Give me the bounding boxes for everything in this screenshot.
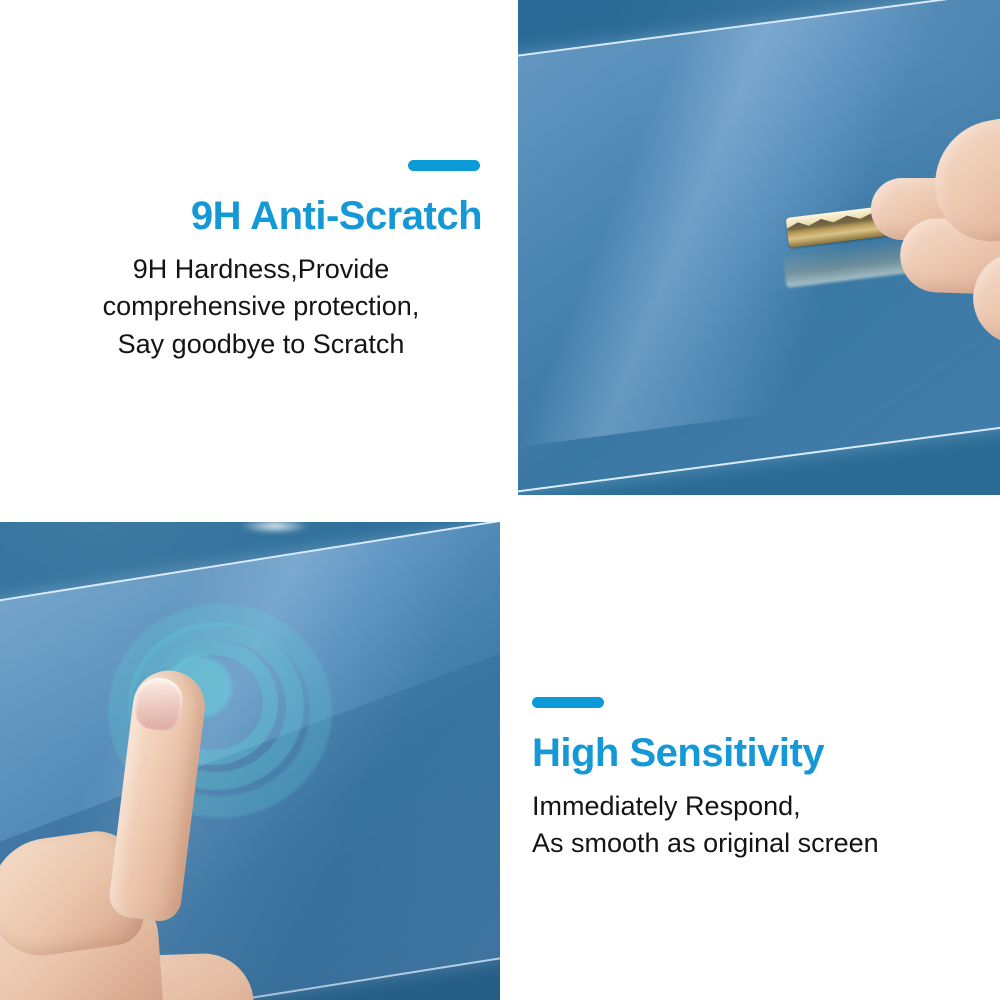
accent-bar-icon xyxy=(532,697,604,708)
accent-bar-icon xyxy=(408,160,480,171)
specular-highlight xyxy=(240,522,310,534)
hand-holding-key xyxy=(858,98,1000,372)
product-feature-collage: 9H Anti-Scratch 9H Hardness,Provide comp… xyxy=(0,0,1000,1000)
feature-description-anti-scratch: 9H Hardness,Provide comprehensive protec… xyxy=(40,251,482,363)
photo-anti-scratch xyxy=(518,0,1000,495)
hand-touching-screen xyxy=(0,660,310,1000)
feature-block-high-sensitivity: High Sensitivity Immediately Respond, As… xyxy=(532,697,982,863)
feature-title-anti-scratch: 9H Anti-Scratch xyxy=(40,195,482,237)
feature-description-high-sensitivity: Immediately Respond, As smooth as origin… xyxy=(532,788,982,863)
feature-title-high-sensitivity: High Sensitivity xyxy=(532,732,982,774)
touch-interaction-overlay xyxy=(0,522,500,1000)
feature-block-anti-scratch: 9H Anti-Scratch 9H Hardness,Provide comp… xyxy=(40,160,482,363)
